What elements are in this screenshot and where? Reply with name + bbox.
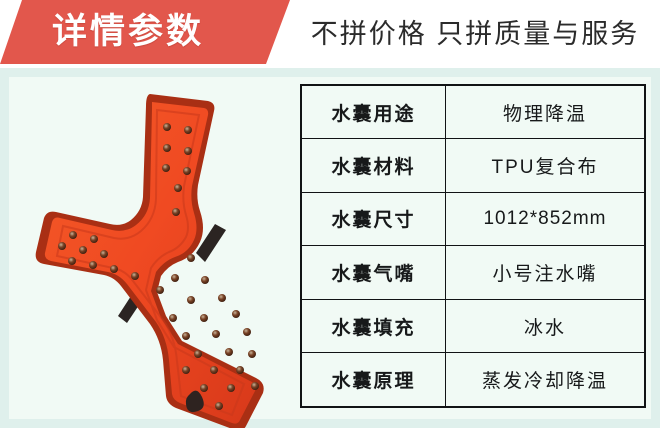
product-image bbox=[0, 78, 292, 428]
spec-value: 1012*852mm bbox=[446, 192, 646, 246]
spec-key: 水囊填充 bbox=[301, 299, 446, 353]
spec-value: 蒸发冷却降温 bbox=[446, 353, 646, 407]
table-row: 水囊原理 蒸发冷却降温 bbox=[301, 353, 645, 407]
spec-value: TPU复合布 bbox=[446, 139, 646, 193]
spec-key: 水囊原理 bbox=[301, 353, 446, 407]
table-row: 水囊材料 TPU复合布 bbox=[301, 139, 645, 193]
spec-value: 小号注水嘴 bbox=[446, 246, 646, 300]
page-root: 详情参数 不拼价格 只拼质量与服务 bbox=[0, 0, 660, 428]
spec-key: 水囊用途 bbox=[301, 85, 446, 139]
spec-key: 水囊尺寸 bbox=[301, 192, 446, 246]
table-row: 水囊用途 物理降温 bbox=[301, 85, 645, 139]
table-row: 水囊尺寸 1012*852mm bbox=[301, 192, 645, 246]
page-title: 详情参数 bbox=[52, 9, 252, 55]
spec-key: 水囊材料 bbox=[301, 139, 446, 193]
spec-key: 水囊气嘴 bbox=[301, 246, 446, 300]
product-illustration-svg bbox=[0, 78, 292, 428]
header: 详情参数 不拼价格 只拼质量与服务 bbox=[0, 0, 660, 68]
table-row: 水囊气嘴 小号注水嘴 bbox=[301, 246, 645, 300]
header-slogan: 不拼价格 只拼质量与服务 bbox=[296, 12, 654, 56]
spec-table-body: 水囊用途 物理降温 水囊材料 TPU复合布 水囊尺寸 1012*852mm 水囊… bbox=[301, 85, 645, 407]
spec-value: 冰水 bbox=[446, 299, 646, 353]
table-row: 水囊填充 冰水 bbox=[301, 299, 645, 353]
spec-table: 水囊用途 物理降温 水囊材料 TPU复合布 水囊尺寸 1012*852mm 水囊… bbox=[300, 84, 646, 408]
spec-value: 物理降温 bbox=[446, 85, 646, 139]
